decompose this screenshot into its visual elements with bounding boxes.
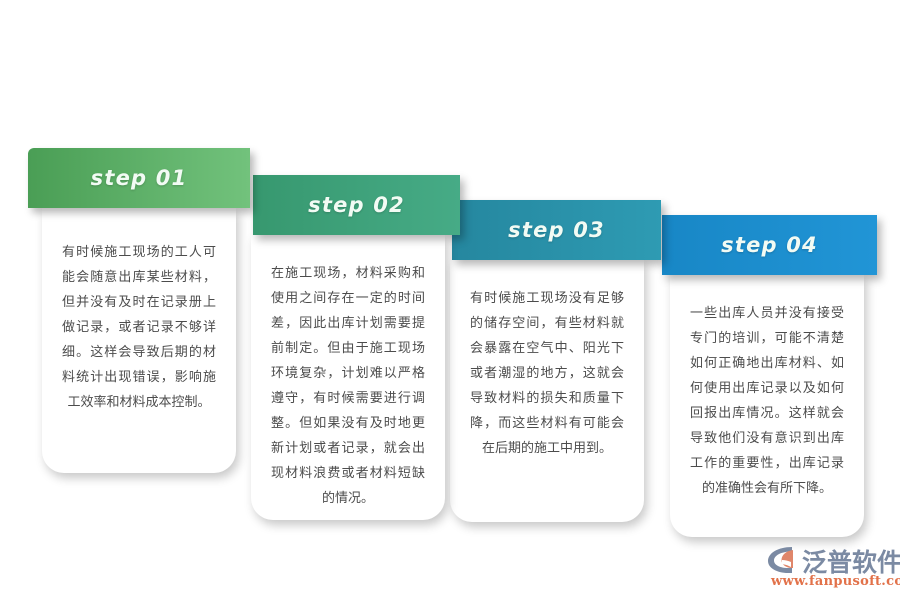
step-card-2-header-label: step 02 <box>308 193 405 217</box>
step-card-2-body: 在施工现场，材料采购和使用之间存在一定的时间差，因此出库计划需要提前制定。但由于… <box>251 235 445 520</box>
logo-url: www.fanpusoft.com <box>771 574 900 589</box>
step-card-1-body: 有时候施工现场的工人可能会随意出库某些材料，但并没有及时在记录册上做记录，或者记… <box>42 208 236 473</box>
step-card-1-text: 有时候施工现场的工人可能会随意出库某些材料，但并没有及时在记录册上做记录，或者记… <box>42 240 236 415</box>
step-card-4-text: 一些出库人员并没有接受专门的培训，可能不清楚如何正确地出库材料、如何使用出库记录… <box>670 301 864 501</box>
step-card-3-header[interactable]: step 03 <box>452 200 661 260</box>
step-card-1-header[interactable]: step 01 <box>28 148 250 208</box>
step-card-3-header-label: step 03 <box>508 218 605 242</box>
step-card-4-header-label: step 04 <box>721 233 818 257</box>
step-card-3-body: 有时候施工现场没有足够的储存空间，有些材料就会暴露在空气中、阳光下或者潮湿的地方… <box>450 260 644 522</box>
infographic-canvas: 有时候施工现场的工人可能会随意出库某些材料，但并没有及时在记录册上做记录，或者记… <box>0 0 900 600</box>
step-card-4-header[interactable]: step 04 <box>662 215 877 275</box>
fanpu-swoosh-logo-icon <box>766 545 800 575</box>
step-card-1-header-label: step 01 <box>91 166 188 190</box>
step-card-2-header[interactable]: step 02 <box>253 175 460 235</box>
step-card-2-text: 在施工现场，材料采购和使用之间存在一定的时间差，因此出库计划需要提前制定。但由于… <box>251 261 445 511</box>
step-card-3-text: 有时候施工现场没有足够的储存空间，有些材料就会暴露在空气中、阳光下或者潮湿的地方… <box>450 286 644 461</box>
step-card-4-body: 一些出库人员并没有接受专门的培训，可能不清楚如何正确地出库材料、如何使用出库记录… <box>670 275 864 537</box>
brand-logo[interactable]: 泛普软件 www.fanpusoft.com <box>766 543 890 591</box>
